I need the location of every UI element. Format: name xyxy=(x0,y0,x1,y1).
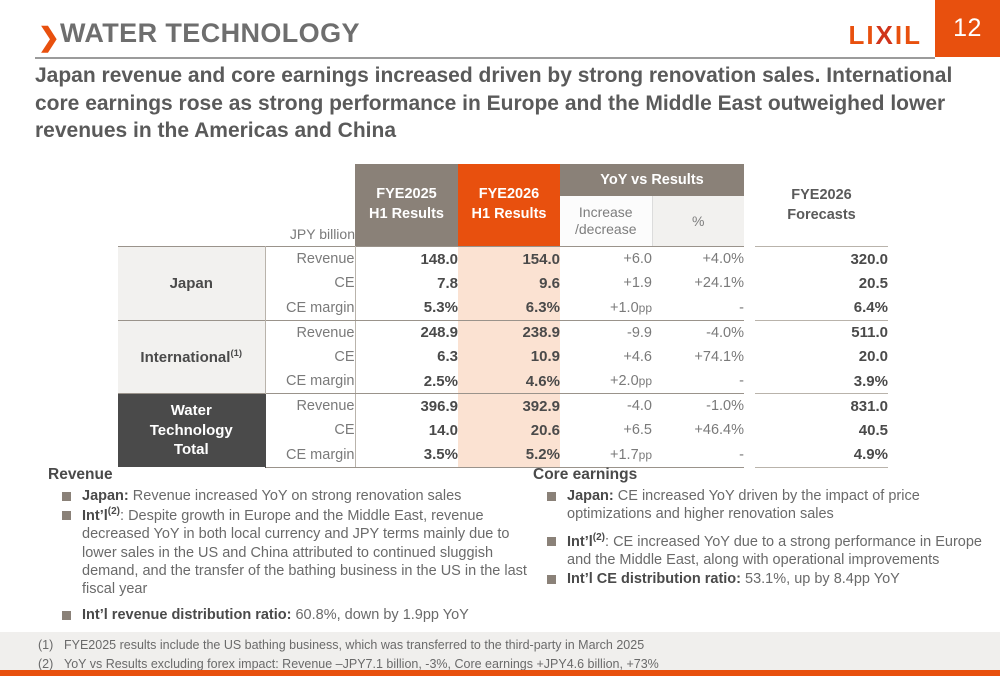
value-increase: +1.0pp xyxy=(560,296,652,321)
value-fy2025: 148.0 xyxy=(355,247,458,272)
footnote-text: FYE2025 results include the US bathing b… xyxy=(64,636,644,655)
row-gap xyxy=(744,394,755,419)
row-gap xyxy=(744,271,755,296)
value-fy2026: 154.0 xyxy=(458,247,560,272)
value-percent: - xyxy=(652,296,744,321)
value-fy2025: 3.5% xyxy=(355,443,458,468)
value-increase: -9.9 xyxy=(560,320,652,345)
bullet-lead: Japan: xyxy=(567,488,614,504)
group-label-water-technology-total: Water Technology Total xyxy=(118,394,265,468)
value-fy2025: 7.8 xyxy=(355,271,458,296)
value-fy2026: 238.9 xyxy=(458,320,560,345)
core-earnings-bullets-section: Core earnings Japan: CE increased YoY dr… xyxy=(533,466,985,589)
header-fye2026-line2: H1 Results xyxy=(458,205,560,225)
bottom-accent-bar xyxy=(0,670,1000,676)
value-percent: -4.0% xyxy=(652,320,744,345)
header-yoy-vs-results: YoY vs Results xyxy=(560,164,744,196)
list-item: Int’l(2): Despite growth in Europe and t… xyxy=(48,506,538,598)
logo-part-x: X xyxy=(876,20,895,50)
increase-number: +1.9 xyxy=(623,275,652,291)
revenue-section-heading: Revenue xyxy=(48,466,538,484)
table-header-row-1: FYE2025 H1 Results FYE2026 H1 Results Yo… xyxy=(118,164,888,196)
bullet-body: Revenue increased YoY on strong renovati… xyxy=(129,488,462,504)
footnote-row: (1) FYE2025 results include the US bathi… xyxy=(38,636,978,655)
bullet-superscript: (2) xyxy=(108,506,120,517)
value-fy2026: 20.6 xyxy=(458,418,560,443)
metric-label: Revenue xyxy=(265,394,355,419)
page-number-badge: 12 xyxy=(935,0,1000,57)
unit-label: JPY billion xyxy=(205,226,355,242)
row-gap xyxy=(744,296,755,321)
bullet-text: Japan: CE increased YoY driven by the im… xyxy=(567,487,985,524)
value-fy2025: 2.5% xyxy=(355,369,458,394)
value-forecast: 3.9% xyxy=(755,369,888,394)
header-fye2025-line1: FYE2025 xyxy=(355,185,458,205)
increase-number: +1.7 xyxy=(610,447,639,463)
slide-subtitle: Japan revenue and core earnings increase… xyxy=(35,62,970,145)
header-fye2026-line1: FYE2026 xyxy=(458,185,560,205)
page-title: WATER TECHNOLOGY xyxy=(60,18,360,49)
value-percent: - xyxy=(652,369,744,394)
group-label-line3: Total xyxy=(118,440,265,460)
metric-label: CE margin xyxy=(265,296,355,321)
header-increase-line2: /decrease xyxy=(560,221,652,239)
group-label-text: Japan xyxy=(170,275,213,292)
value-increase: +6.0 xyxy=(560,247,652,272)
increase-unit: pp xyxy=(639,448,652,462)
value-forecast: 831.0 xyxy=(755,394,888,419)
row-gap xyxy=(744,418,755,443)
value-increase: +1.9 xyxy=(560,271,652,296)
header-increase-line1: Increase xyxy=(560,204,652,222)
logo-part-1: LI xyxy=(848,20,875,50)
header-fye2025-line2: H1 Results xyxy=(355,205,458,225)
increase-number: +1.0 xyxy=(610,300,639,316)
value-fy2025: 6.3 xyxy=(355,345,458,370)
value-percent: +4.0% xyxy=(652,247,744,272)
logo-part-2: IL xyxy=(895,20,922,50)
value-fy2025: 5.3% xyxy=(355,296,458,321)
list-item: Japan: CE increased YoY driven by the im… xyxy=(533,487,985,524)
value-fy2026: 4.6% xyxy=(458,369,560,394)
group-label-line2: Technology xyxy=(118,421,265,441)
title-divider xyxy=(35,57,935,59)
row-gap xyxy=(744,443,755,468)
bullet-lead: Int’l revenue distribution ratio: xyxy=(82,607,291,623)
list-item: Int’l revenue distribution ratio: 60.8%,… xyxy=(48,606,538,624)
financial-table: FYE2025 H1 Results FYE2026 H1 Results Yo… xyxy=(118,164,888,468)
footnote-number: (1) xyxy=(38,636,64,655)
row-gap xyxy=(744,369,755,394)
bullet-text: Int’l(2): Despite growth in Europe and t… xyxy=(82,506,538,598)
bullet-body: CE increased YoY driven by the impact of… xyxy=(567,488,920,522)
bullet-lead: Int’l xyxy=(567,533,593,549)
header-forecast-line2: Forecasts xyxy=(755,205,888,225)
footnotes: (1) FYE2025 results include the US bathi… xyxy=(38,636,978,675)
value-forecast: 6.4% xyxy=(755,296,888,321)
metric-label: CE xyxy=(265,418,355,443)
value-percent: - xyxy=(652,443,744,468)
group-label-superscript: (1) xyxy=(230,348,242,359)
metric-label: Revenue xyxy=(265,247,355,272)
value-forecast: 4.9% xyxy=(755,443,888,468)
value-increase: +2.0pp xyxy=(560,369,652,394)
value-percent: -1.0% xyxy=(652,394,744,419)
table-row: Japan Revenue 148.0 154.0 +6.0 +4.0% 320… xyxy=(118,247,888,272)
bullet-square-icon xyxy=(62,492,71,501)
increase-unit: pp xyxy=(639,301,652,315)
financial-table-wrapper: FYE2025 H1 Results FYE2026 H1 Results Yo… xyxy=(118,164,888,468)
lixil-logo: LIXIL xyxy=(848,20,922,51)
metric-label: CE xyxy=(265,345,355,370)
header-increase-decrease: Increase /decrease xyxy=(560,196,652,246)
value-increase: +4.6 xyxy=(560,345,652,370)
bullet-square-icon xyxy=(62,611,71,620)
value-percent: +24.1% xyxy=(652,271,744,296)
value-increase: +6.5 xyxy=(560,418,652,443)
increase-number: +6.5 xyxy=(623,422,652,438)
header-gap xyxy=(744,164,755,246)
value-fy2026: 9.6 xyxy=(458,271,560,296)
header-forecast-line1: FYE2026 xyxy=(755,185,888,205)
value-fy2026: 392.9 xyxy=(458,394,560,419)
bullet-lead: Int’l CE distribution ratio: xyxy=(567,571,741,587)
bullet-body: 53.1%, up by 8.4pp YoY xyxy=(741,571,900,587)
list-item: Int’l CE distribution ratio: 53.1%, up b… xyxy=(533,570,985,588)
increase-unit: pp xyxy=(639,374,652,388)
metric-label: CE xyxy=(265,271,355,296)
bullet-square-icon xyxy=(62,511,71,520)
table-row: International(1) Revenue 248.9 238.9 -9.… xyxy=(118,320,888,345)
list-item: Int’l(2): CE increased YoY due to a stro… xyxy=(533,532,985,569)
bullet-square-icon xyxy=(547,492,556,501)
group-label-international: International(1) xyxy=(118,320,265,394)
bullet-square-icon xyxy=(547,575,556,584)
bullet-text: Japan: Revenue increased YoY on strong r… xyxy=(82,487,461,505)
value-fy2026: 6.3% xyxy=(458,296,560,321)
bullet-lead: Int’l xyxy=(82,508,108,524)
table-row: Water Technology Total Revenue 396.9 392… xyxy=(118,394,888,419)
list-item: Japan: Revenue increased YoY on strong r… xyxy=(48,487,538,505)
value-percent: +46.4% xyxy=(652,418,744,443)
chevron-right-icon: ❯ xyxy=(38,24,60,50)
metric-label: CE margin xyxy=(265,369,355,394)
core-earnings-section-heading: Core earnings xyxy=(533,466,985,484)
value-fy2026: 5.2% xyxy=(458,443,560,468)
value-fy2025: 248.9 xyxy=(355,320,458,345)
header-fye2025-results: FYE2025 H1 Results xyxy=(355,164,458,246)
row-gap xyxy=(744,247,755,272)
value-increase: -4.0 xyxy=(560,394,652,419)
bullet-body: : Despite growth in Europe and the Middl… xyxy=(82,508,527,597)
increase-number: +6.0 xyxy=(623,251,652,267)
increase-number: +2.0 xyxy=(610,373,639,389)
metric-label: Revenue xyxy=(265,320,355,345)
value-fy2025: 14.0 xyxy=(355,418,458,443)
row-gap xyxy=(744,320,755,345)
header-fye2026-results: FYE2026 H1 Results xyxy=(458,164,560,246)
slide-header: ❯ WATER TECHNOLOGY LIXIL 12 xyxy=(0,0,1000,58)
bullet-square-icon xyxy=(547,537,556,546)
increase-number: -9.9 xyxy=(627,325,652,341)
bullet-lead: Japan: xyxy=(82,488,129,504)
increase-number: -4.0 xyxy=(627,398,652,414)
increase-number: +4.6 xyxy=(623,349,652,365)
value-forecast: 40.5 xyxy=(755,418,888,443)
value-fy2026: 10.9 xyxy=(458,345,560,370)
metric-label: CE margin xyxy=(265,443,355,468)
group-label-line1: Water xyxy=(118,401,265,421)
bullet-superscript: (2) xyxy=(593,532,605,543)
bullet-text: Int’l(2): CE increased YoY due to a stro… xyxy=(567,532,985,569)
bullet-body: 60.8%, down by 1.9pp YoY xyxy=(291,607,468,623)
value-forecast: 20.0 xyxy=(755,345,888,370)
bullet-text: Int’l CE distribution ratio: 53.1%, up b… xyxy=(567,570,900,588)
row-gap xyxy=(744,345,755,370)
value-percent: +74.1% xyxy=(652,345,744,370)
header-percent: % xyxy=(652,196,744,246)
bullet-body: : CE increased YoY due to a strong perfo… xyxy=(567,533,982,567)
value-forecast: 20.5 xyxy=(755,271,888,296)
value-forecast: 511.0 xyxy=(755,320,888,345)
revenue-bullets-section: Revenue Japan: Revenue increased YoY on … xyxy=(48,466,538,626)
header-fye2026-forecasts: FYE2026 Forecasts xyxy=(755,164,888,246)
group-label-text: International xyxy=(140,349,230,366)
bullet-text: Int’l revenue distribution ratio: 60.8%,… xyxy=(82,606,469,624)
group-label-japan: Japan xyxy=(118,247,265,321)
value-forecast: 320.0 xyxy=(755,247,888,272)
value-fy2025: 396.9 xyxy=(355,394,458,419)
value-increase: +1.7pp xyxy=(560,443,652,468)
